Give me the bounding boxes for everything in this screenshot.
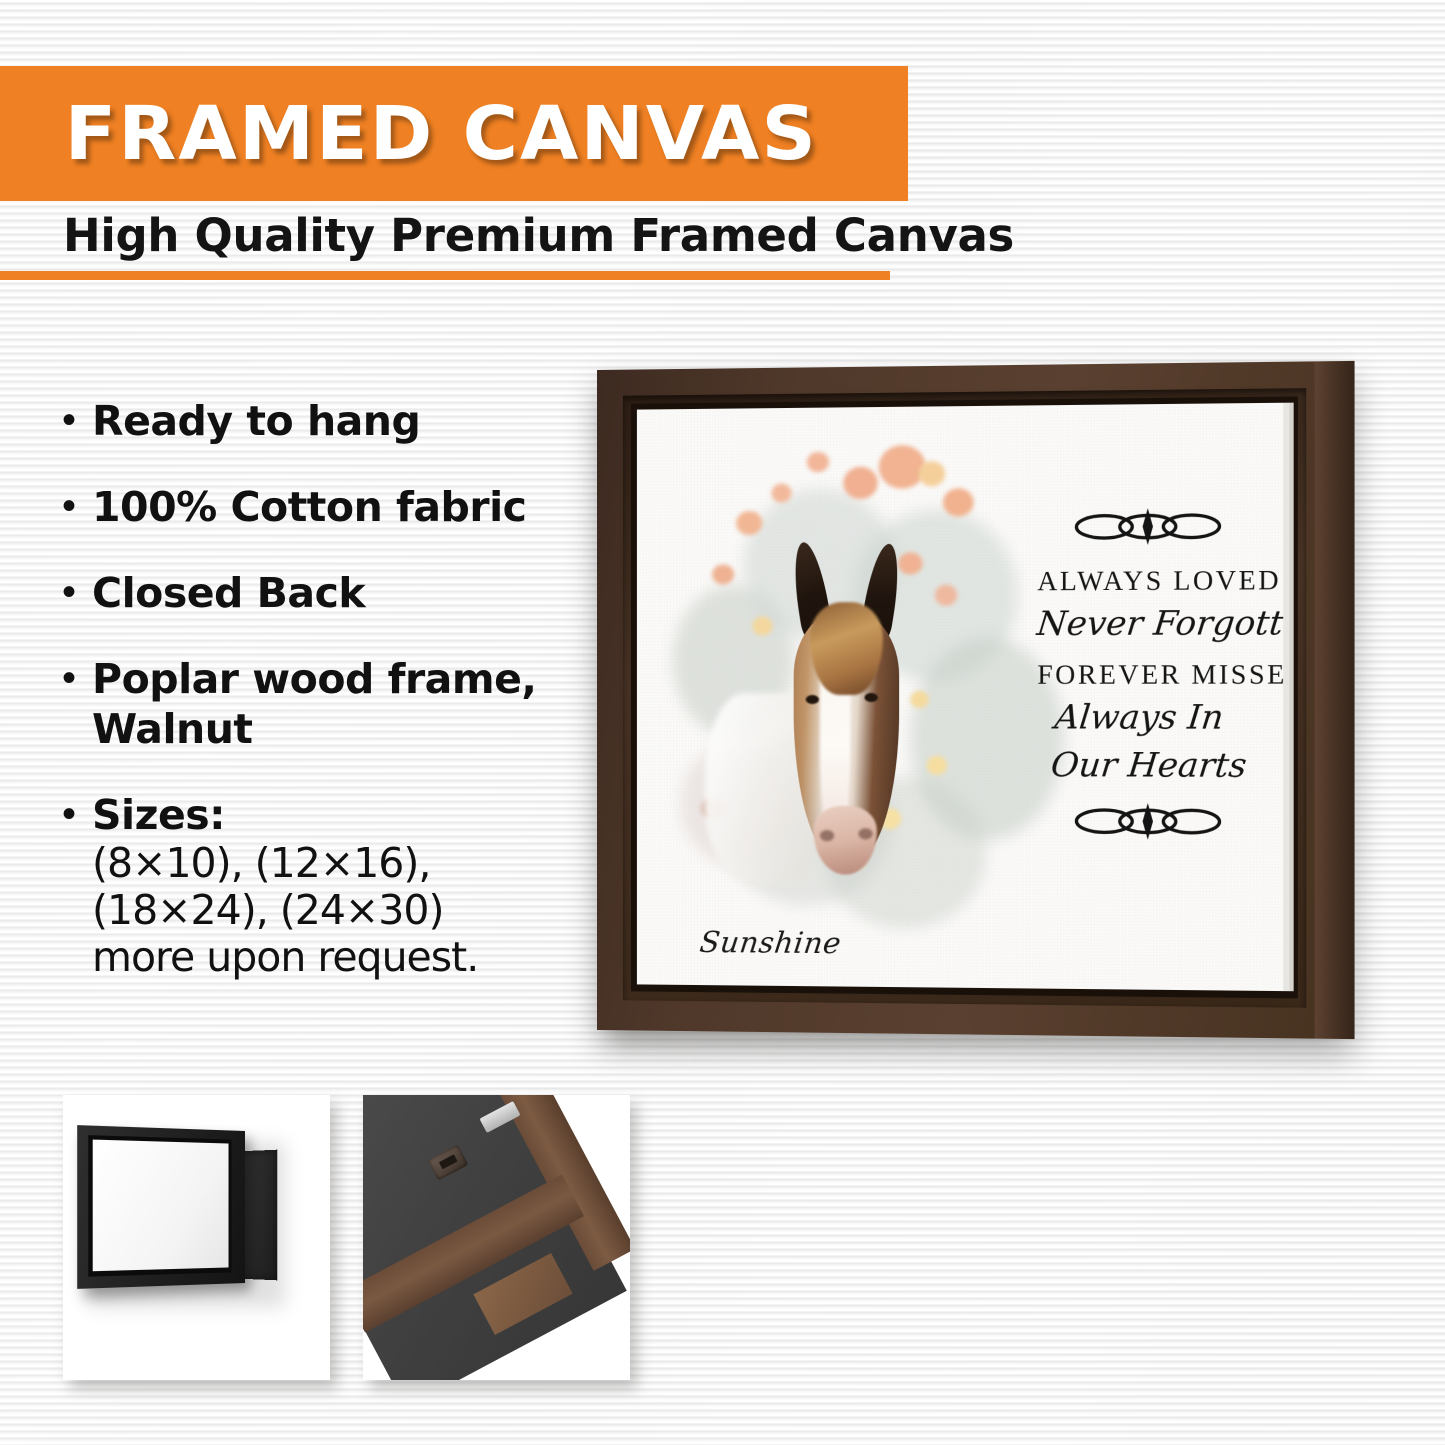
canvas-block: Sunshine — [637, 403, 1283, 991]
horse-forelock — [810, 602, 883, 695]
header-divider-rule — [0, 271, 890, 280]
pet-name-text: Sunshine — [698, 925, 843, 960]
canvas-print-face: Sunshine — [637, 403, 1283, 991]
watercolor-artwork — [650, 423, 1048, 960]
thumb-frame-gap — [88, 1135, 231, 1277]
quote-line-1: ALWAYS LOVED — [1037, 564, 1260, 597]
header-subtitle: High Quality Premium Framed Canvas — [63, 209, 1014, 262]
floating-frame-gap: Sunshine — [631, 396, 1298, 998]
feature-label: Poplar wood frame, Walnut — [92, 654, 582, 754]
quote-line-4: Always In — [1035, 696, 1262, 736]
feature-label: Closed Back — [92, 568, 365, 618]
quote-line-2: Never Forgotten — [1035, 602, 1262, 642]
quote-line-3: FOREVER MISSED — [1037, 659, 1260, 691]
feature-list: • Ready to hang • 100% Cotton fabric • C… — [62, 396, 582, 1017]
feature-item-closed-back: • Closed Back — [62, 568, 582, 618]
frame-depth-edge — [1315, 361, 1355, 1039]
thumb-blank-canvas — [93, 1140, 229, 1272]
sizes-line-1: (8×10), (12×16), — [92, 840, 478, 887]
thumbnail-black-floating-frame[interactable] — [63, 1095, 330, 1380]
feature-item-sizes: • Sizes: (8×10), (12×16), (18×24), (24×3… — [62, 790, 582, 981]
sizes-label: Sizes: — [92, 790, 478, 840]
horse-portrait — [779, 541, 938, 926]
feature-item-cotton-fabric: • 100% Cotton fabric — [62, 482, 582, 532]
frame-inner-bevel: Sunshine — [623, 388, 1306, 1008]
feature-label: Ready to hang — [92, 396, 420, 446]
bullet-icon: • — [62, 790, 76, 838]
feature-label: 100% Cotton fabric — [92, 482, 526, 532]
bullet-icon: • — [62, 654, 76, 702]
bullet-icon: • — [62, 396, 76, 444]
bullet-icon: • — [62, 568, 76, 616]
walnut-frame: Sunshine — [597, 361, 1355, 1039]
infographic-page: FRAMED CANVAS High Quality Premium Frame… — [0, 0, 1445, 1445]
header-banner: FRAMED CANVAS — [0, 66, 908, 201]
thumb-frame-moulding — [77, 1125, 245, 1289]
feature-item-ready-to-hang: • Ready to hang — [62, 396, 582, 446]
framed-canvas-product: Sunshine — [597, 370, 1342, 1035]
page-title: FRAMED CANVAS — [65, 91, 818, 177]
thumbnail-walnut-back-corner[interactable] — [363, 1095, 630, 1380]
quote-line-5: Our Hearts — [1035, 744, 1262, 784]
sizes-line-3: more upon request. — [92, 934, 478, 981]
feature-item-poplar-wood-frame: • Poplar wood frame, Walnut — [62, 654, 582, 754]
memorial-quote-block: ALWAYS LOVED Never Forgotten FOREVER MIS… — [1037, 503, 1260, 844]
sizes-line-2: (18×24), (24×30) — [92, 887, 478, 934]
bullet-icon: • — [62, 482, 76, 530]
flourish-ornament-icon — [1072, 503, 1225, 549]
flourish-ornament-icon — [1072, 798, 1225, 844]
